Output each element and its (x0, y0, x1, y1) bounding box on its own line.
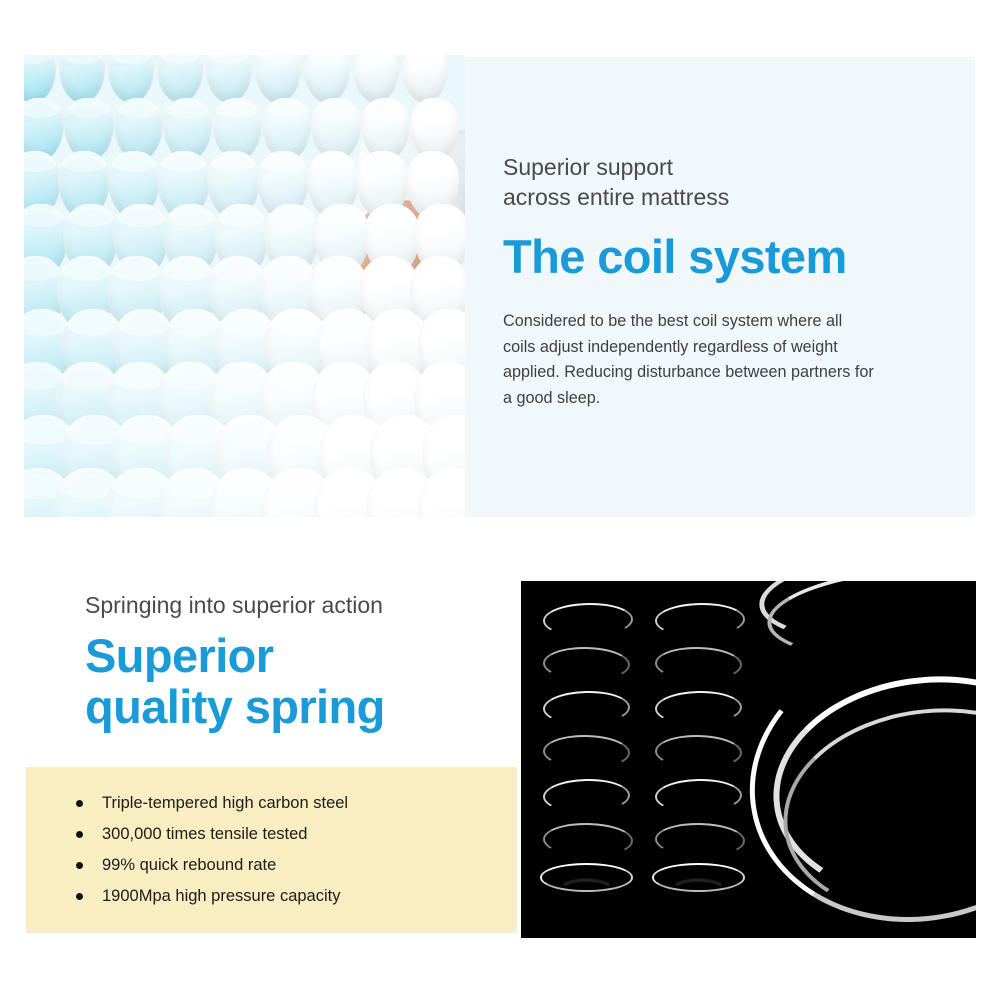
top-eyebrow-line-2: across entire mattress (503, 182, 923, 212)
spring-turn (655, 602, 746, 638)
spring-turn (543, 822, 634, 858)
closeup-spring-highlight (727, 614, 976, 938)
spring-turn (543, 690, 631, 726)
feature-list: Triple-tempered high carbon steel300,000… (76, 791, 348, 915)
pocket-coil (24, 55, 56, 103)
spring-turn (655, 822, 746, 858)
feature-list-item: 300,000 times tensile tested (76, 822, 348, 846)
bottom-headline-line-1: Superior (85, 630, 515, 681)
feature-list-item-label: 99% quick rebound rate (102, 856, 276, 874)
spring-turn (655, 646, 743, 682)
feature-list-box: Triple-tempered high carbon steel300,000… (26, 767, 517, 933)
feature-list-item: 99% quick rebound rate (76, 853, 348, 877)
pocket-coil-texture (24, 55, 465, 517)
spring-turn (543, 778, 631, 814)
pocket-coil (402, 55, 448, 103)
bullet-icon (76, 862, 83, 869)
spring-turn (655, 778, 743, 814)
spring-turn (543, 646, 631, 682)
spring-turn (543, 734, 631, 770)
bullet-icon (76, 800, 83, 807)
spring-reflection (558, 879, 615, 904)
spring-turn (655, 690, 743, 726)
bottom-headline: Superior quality spring (85, 630, 515, 732)
top-text-panel-background (465, 57, 975, 517)
pocket-coil (353, 55, 399, 103)
feature-list-item: 1900Mpa high pressure capacity (76, 884, 348, 908)
bottom-headline-line-2: quality spring (85, 681, 515, 732)
top-eyebrow-line-1: Superior support (503, 152, 923, 182)
bullet-icon (76, 893, 83, 900)
spring-reflection (670, 879, 727, 904)
pocket-coil-mattress-image (24, 55, 465, 517)
feature-list-item-label: 300,000 times tensile tested (102, 825, 307, 843)
pocket-coil (206, 55, 252, 103)
top-eyebrow-text: Superior support across entire mattress (503, 152, 923, 212)
pocket-coil (157, 55, 203, 103)
pocket-coil (304, 55, 350, 103)
top-body-paragraph: Considered to be the best coil system wh… (503, 309, 875, 411)
pocket-coil (59, 55, 105, 103)
spring-turn (655, 734, 743, 770)
feature-list-item-label: 1900Mpa high pressure capacity (102, 887, 340, 905)
bullet-icon (76, 831, 83, 838)
steel-spring-image (521, 581, 976, 938)
bottom-eyebrow-text: Springing into superior action (85, 590, 525, 620)
pocket-coil (108, 55, 154, 103)
top-feature-section: Superior support across entire mattress … (0, 0, 1000, 540)
pocket-coil (255, 55, 301, 103)
feature-list-item: Triple-tempered high carbon steel (76, 791, 348, 815)
top-headline: The coil system (503, 232, 943, 282)
feature-list-item-label: Triple-tempered high carbon steel (102, 794, 348, 812)
spring-turn (543, 602, 634, 638)
